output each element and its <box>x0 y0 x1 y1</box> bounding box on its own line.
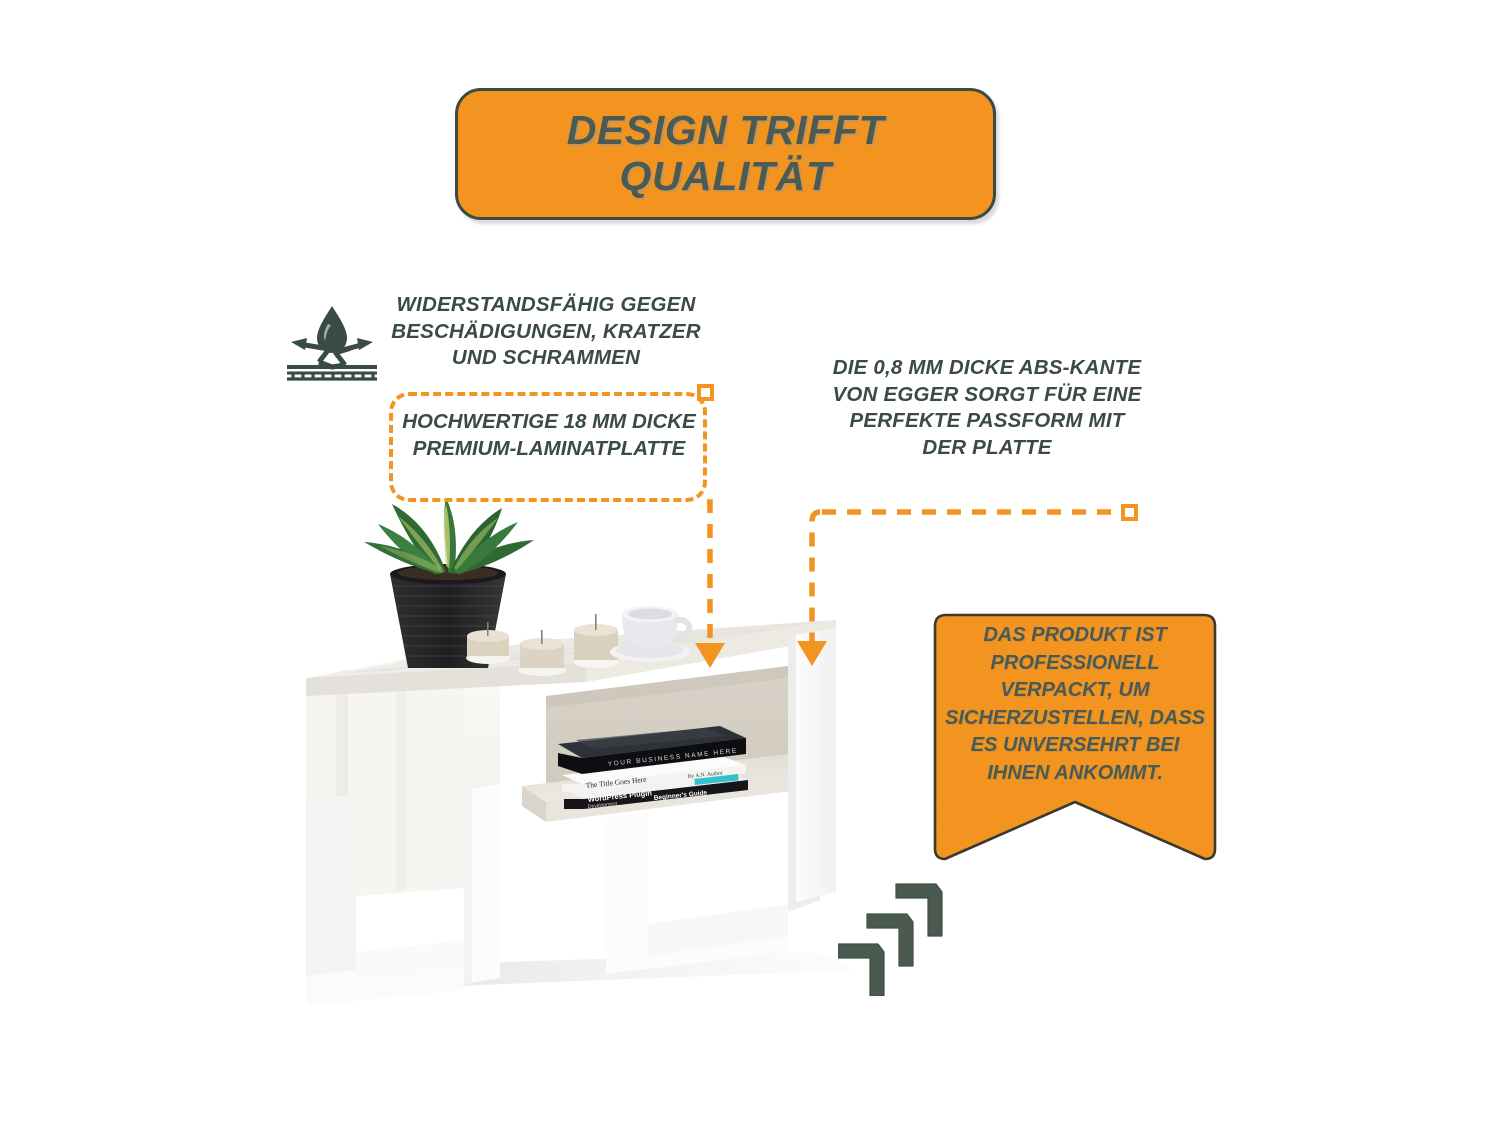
chevron-arrow-3 <box>838 944 884 996</box>
square-terminal-marker-edge <box>1121 504 1138 521</box>
feature-durability-text: WIDERSTANDSFÄHIG GEGEN BESCHÄDIGUNGEN, K… <box>378 292 714 372</box>
feature-edge-text: DIE 0,8 MM DICKE ABS-KANTE VON EGGER SOR… <box>828 355 1146 462</box>
infographic-canvas: WordPress Plugin Development Beginner's … <box>0 0 1500 1125</box>
header-banner: DESIGN TRIFFT QUALITÄT <box>455 88 996 220</box>
table-leg-left-front <box>464 784 500 984</box>
header-title-line2: QUALITÄT <box>619 154 831 200</box>
laminate-callout-text: HOCHWERTIGE 18 MM DICKE PREMIUM-LAMINATP… <box>398 408 700 463</box>
table-leg-right-front <box>788 628 836 904</box>
packaging-callout-text: DAS PRODUKT IST PROFESSIONELL VERPACKT, … <box>944 622 1206 788</box>
product-photo-coffee-table: WordPress Plugin Development Beginner's … <box>296 500 856 1020</box>
potted-plant-leaves <box>364 500 534 574</box>
table-sled-foot-right <box>606 812 788 974</box>
water-droplet-repellent-surface-icon <box>283 300 381 382</box>
chevron-arrow-decoration-group <box>838 878 978 996</box>
header-title-line1: DESIGN TRIFFT <box>567 108 885 154</box>
